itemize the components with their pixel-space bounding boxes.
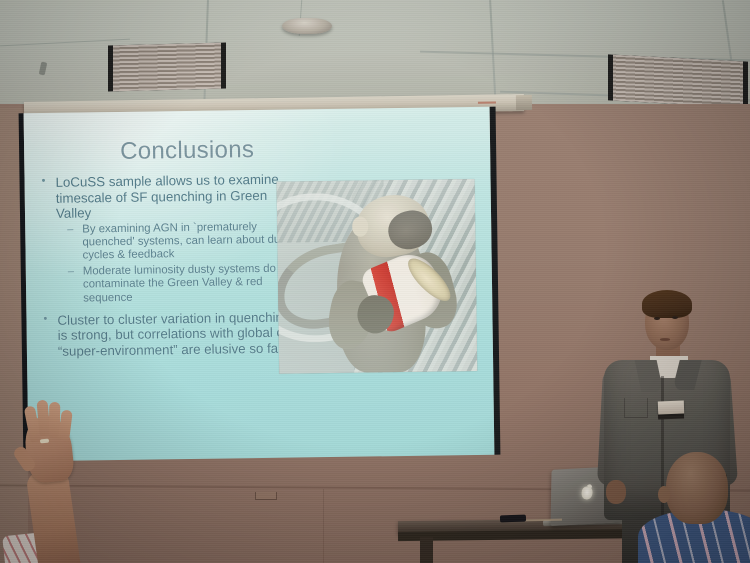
wall-fixture — [255, 492, 277, 500]
attendee-ear — [658, 486, 670, 503]
conference-room-photo: Conclusions LoCuSS sample allows us to e… — [0, 0, 750, 563]
attendee-head — [666, 452, 728, 524]
vent-slats — [108, 42, 226, 91]
slide-title: Conclusions — [120, 136, 254, 166]
vent-slats — [608, 54, 748, 107]
vent-frame — [221, 42, 226, 88]
photo-monkey-ear — [352, 217, 368, 236]
sub-bullet-item: By examining AGN in `prematurely quenche… — [67, 220, 290, 263]
vent-frame — [108, 45, 113, 91]
hvac-vent-left — [108, 42, 226, 91]
presenter-hair — [642, 290, 692, 318]
slide-photo-monkey — [277, 179, 478, 374]
ceiling — [0, 0, 750, 112]
ceiling-hook — [39, 62, 48, 76]
presenter-mouth — [660, 338, 670, 341]
bullet-item: Cluster to cluster variation in quenchin… — [40, 310, 291, 360]
housing-label — [478, 102, 496, 104]
presenter-remote[interactable] — [500, 515, 526, 523]
name-badge — [658, 401, 684, 415]
raised-hand-attendee — [4, 408, 108, 563]
ceiling-tile-seam — [489, 0, 497, 110]
ceiling-tile-seam — [722, 0, 732, 60]
table-leg — [420, 537, 433, 563]
slide-bullet-list: LoCuSS sample allows us to examine times… — [38, 172, 291, 362]
sub-bullet-item: Moderate luminosity dusty systems do con… — [68, 262, 291, 305]
finger-ring — [40, 439, 49, 444]
housing-end-cap — [516, 95, 532, 110]
presenter-eye — [672, 316, 678, 319]
vent-frame — [743, 61, 748, 107]
attendee-finger — [58, 409, 73, 440]
smoke-detector-icon — [282, 18, 332, 34]
vent-frame — [608, 54, 613, 100]
presenter-hand — [606, 480, 626, 504]
presenter-shirt-pocket — [624, 398, 648, 418]
presenter-eye — [654, 317, 660, 320]
hvac-vent-right — [608, 54, 748, 107]
seated-attendee — [644, 452, 750, 563]
wall-seam — [323, 489, 324, 563]
apple-logo-icon — [581, 486, 592, 500]
bullet-item: LoCuSS sample allows us to examine times… — [38, 172, 289, 222]
